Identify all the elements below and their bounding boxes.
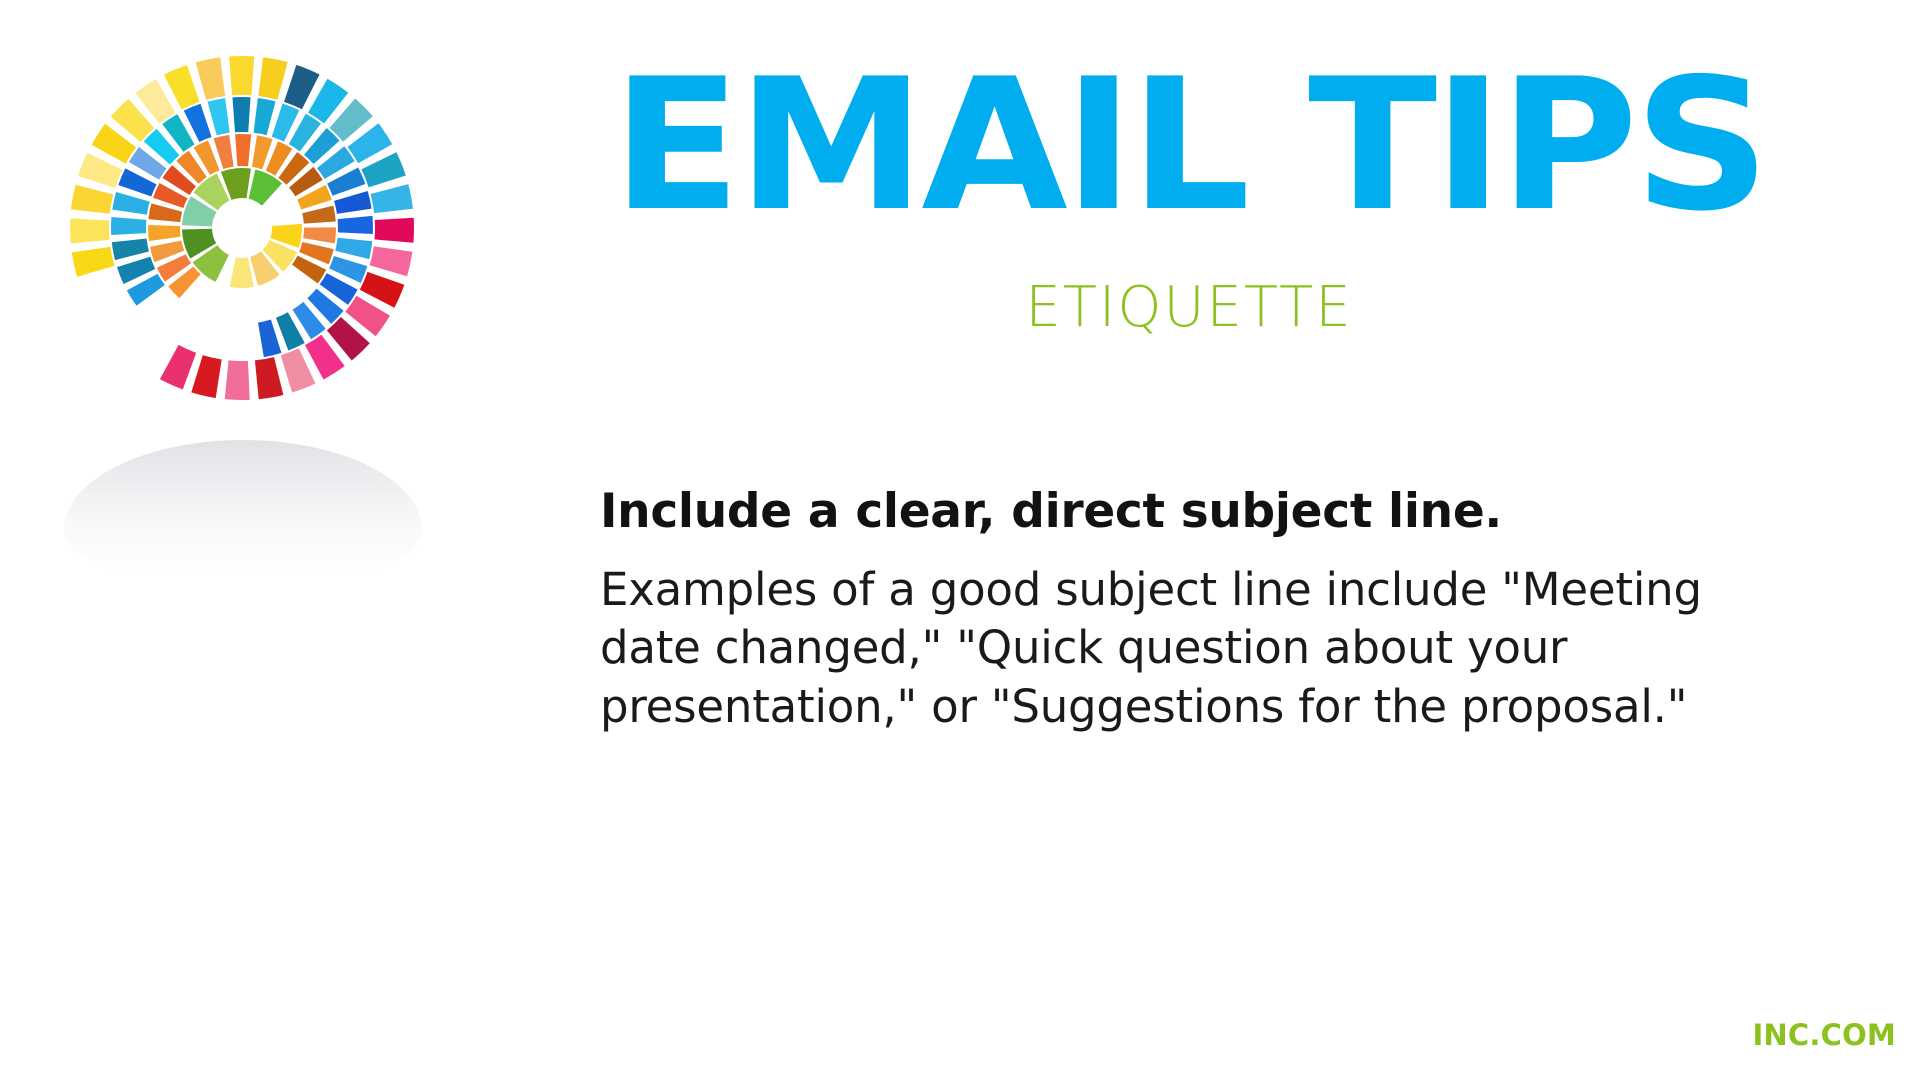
slide-canvas: EMAIL TIPS ETIQUETTE Include a clear, di… [0, 0, 1920, 1080]
logo-segment [370, 246, 413, 276]
inner-ring-lower [230, 224, 302, 288]
logo-segment [254, 98, 276, 135]
logo-segment [207, 98, 229, 135]
logo-segment [235, 134, 251, 166]
logo-segment [71, 185, 113, 214]
brand-logo [62, 48, 422, 548]
logo-segment [196, 57, 226, 100]
logo-segment [335, 238, 372, 259]
tip-heading: Include a clear, direct subject line. [600, 486, 1770, 539]
page-title: EMAIL TIPS [570, 58, 1808, 233]
page-subtitle: ETIQUETTE [594, 280, 1784, 336]
logo-segment [302, 206, 336, 224]
logo-segment [160, 345, 196, 390]
logo-segment [112, 238, 149, 260]
logo-segment [338, 216, 373, 234]
logo-segment [334, 191, 371, 214]
logo-segment [225, 360, 250, 400]
logo-segment [70, 218, 110, 243]
logo-segment [230, 257, 254, 288]
logo-segment [112, 192, 149, 215]
logo-segment [148, 225, 181, 241]
source-watermark: INC.COM [1752, 1018, 1896, 1052]
logo-segment [375, 218, 414, 243]
logo-segment [229, 56, 254, 95]
logo-segment [258, 57, 287, 99]
logo-segment [249, 169, 282, 205]
logo-segment [255, 357, 283, 399]
tip-block: Include a clear, direct subject line. Ex… [600, 486, 1770, 736]
content-column: EMAIL TIPS ETIQUETTE Include a clear, di… [594, 0, 1844, 1080]
logo-segment [371, 184, 413, 213]
tip-body-text: Examples of a good subject line include … [600, 561, 1720, 737]
color-spiral-icon [62, 48, 422, 408]
logo-reflection [64, 440, 422, 590]
logo-segment [281, 348, 316, 392]
logo-segment [258, 320, 281, 358]
logo-segment [303, 227, 336, 243]
logo-segment [111, 217, 146, 235]
logo-segment [232, 97, 250, 132]
logo-segment [191, 355, 221, 398]
logo-segment [72, 247, 115, 277]
logo-segment [148, 203, 182, 222]
